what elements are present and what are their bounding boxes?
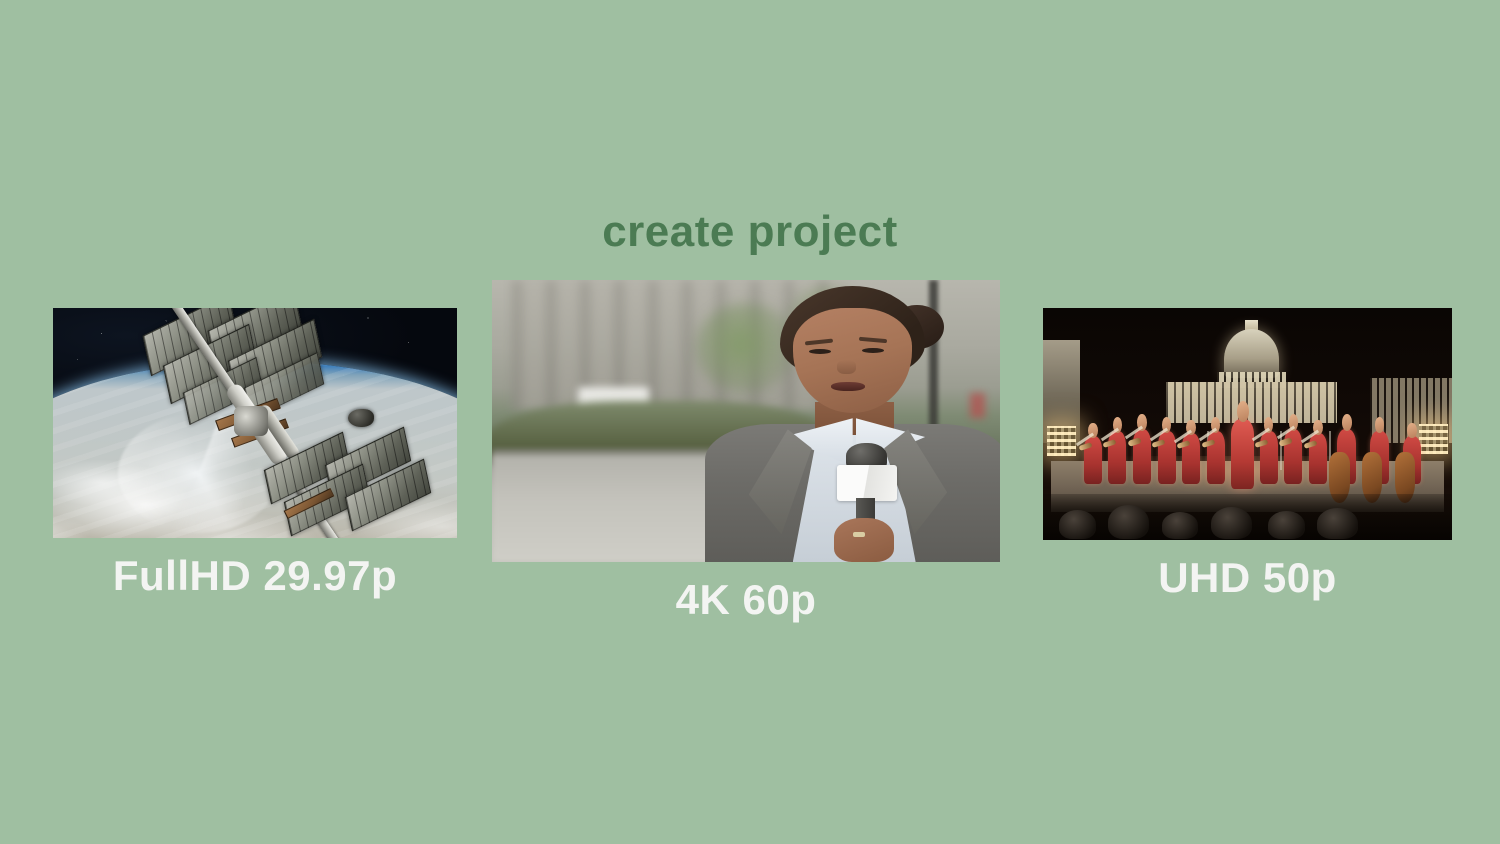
orchestra-musician <box>1207 431 1225 484</box>
orchestra-musician <box>1133 429 1151 485</box>
orchestra-musician <box>1309 433 1327 484</box>
orchestra-conductor <box>1231 419 1254 489</box>
conductor-head <box>1237 401 1249 422</box>
reporter-hand <box>834 518 894 562</box>
docked-capsule <box>348 409 374 427</box>
stage-light <box>1047 426 1076 456</box>
audience-head <box>1108 505 1149 539</box>
preset-label-uhd: UHD 50p <box>1043 554 1452 602</box>
news-reporter-thumbnail[interactable] <box>492 280 1000 562</box>
reporter-figure <box>695 286 1000 562</box>
orchestra-musician <box>1108 431 1126 484</box>
reporter-nose <box>837 360 856 374</box>
preset-label-4k: 4K 60p <box>492 576 1000 624</box>
preset-label-fullhd: FullHD 29.97p <box>53 552 457 600</box>
iss-over-earth-thumbnail[interactable] <box>53 308 457 538</box>
create-project-screen: create project <box>0 0 1500 844</box>
audience-head <box>1268 511 1305 539</box>
preset-card-fullhd[interactable]: FullHD 29.97p <box>53 308 457 538</box>
audience-silhouette <box>1043 494 1452 540</box>
orchestra-musician <box>1084 436 1102 485</box>
audience-head <box>1059 510 1096 539</box>
page-title: create project <box>0 208 1500 256</box>
reporter-ring <box>853 532 866 537</box>
musician-head <box>1407 423 1416 438</box>
stage-light <box>1419 424 1448 454</box>
night-orchestra-thumbnail[interactable] <box>1043 308 1452 540</box>
capitol-dome <box>1224 329 1279 378</box>
audience-head <box>1317 508 1358 539</box>
microphone-flag <box>837 465 897 501</box>
musician-head <box>1342 414 1352 431</box>
audience-head <box>1162 512 1199 539</box>
capitol-wings <box>1166 382 1338 423</box>
audience-head <box>1211 507 1252 539</box>
orchestra-musician <box>1260 431 1278 484</box>
orchestra-musician <box>1182 433 1200 484</box>
capitol-building <box>1166 329 1338 431</box>
musician-head <box>1375 417 1385 433</box>
preset-card-uhd[interactable]: UHD 50p <box>1043 308 1452 540</box>
orchestra-musician <box>1158 431 1176 484</box>
preset-card-4k[interactable]: 4K 60p <box>492 280 1000 562</box>
reporter-mouth <box>831 382 866 391</box>
orchestra-musician <box>1284 429 1302 485</box>
station-hub <box>234 406 268 436</box>
